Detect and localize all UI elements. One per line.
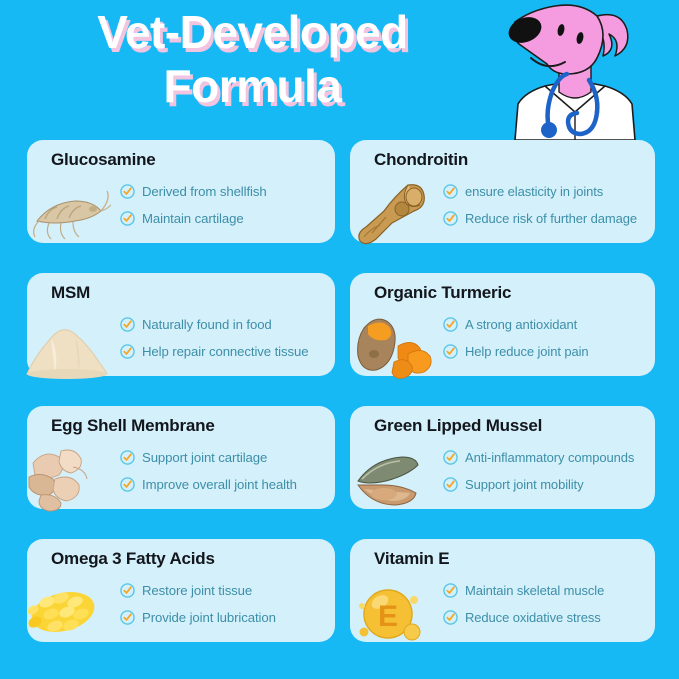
check-circle-icon: [120, 317, 135, 332]
check-circle-icon: [443, 211, 458, 226]
bullet-text: Anti-inflammatory compounds: [465, 450, 634, 465]
bullet-text: Reduce risk of further damage: [465, 211, 637, 226]
bullet-text: A strong antioxidant: [465, 317, 577, 332]
check-circle-icon: [443, 610, 458, 625]
check-circle-icon: [120, 477, 135, 492]
shrimp-icon: [25, 171, 111, 247]
bullet-text: Maintain skeletal muscle: [465, 583, 604, 598]
page-title: Vet-Developed Formula: [0, 6, 505, 114]
title-line-1: Vet-Developed: [0, 6, 505, 60]
ingredient-card-organic-turmeric[interactable]: Organic Turmeric: [350, 273, 655, 376]
bullet-item: Naturally found in food: [120, 311, 331, 338]
bullet-text: Support joint mobility: [465, 477, 583, 492]
powder-icon: [25, 304, 111, 380]
check-circle-icon: [120, 184, 135, 199]
ingredient-card-glucosamine[interactable]: Glucosamine: [27, 140, 335, 243]
capsule-letter: E: [378, 600, 398, 633]
check-circle-icon: [120, 583, 135, 598]
bullet-text: Help reduce joint pain: [465, 344, 589, 359]
check-circle-icon: [443, 184, 458, 199]
bullet-list: A strong antioxidant Help reduce joint p…: [443, 311, 651, 365]
check-circle-icon: [443, 477, 458, 492]
check-circle-icon: [443, 317, 458, 332]
header: Vet-Developed Formula: [0, 0, 679, 136]
bullet-item: A strong antioxidant: [443, 311, 651, 338]
bullet-text: Help repair connective tissue: [142, 344, 308, 359]
card-title: Glucosamine: [51, 150, 156, 170]
ingredient-card-vitamin-e[interactable]: Vitamin E E: [350, 539, 655, 642]
card-row: Omega 3 Fatty Acids: [0, 535, 679, 668]
bullet-text: Derived from shellfish: [142, 184, 267, 199]
turmeric-icon: [352, 304, 438, 380]
bullet-item: Derived from shellfish: [120, 178, 331, 205]
veterinarian-dog-mascot-icon: [485, 0, 665, 140]
bullet-list: Naturally found in food Help repair conn…: [120, 311, 331, 365]
check-circle-icon: [120, 211, 135, 226]
card-title: Omega 3 Fatty Acids: [51, 549, 215, 569]
check-circle-icon: [120, 344, 135, 359]
bullet-text: Improve overall joint health: [142, 477, 297, 492]
card-row: Glucosamine: [0, 136, 679, 269]
check-circle-icon: [443, 344, 458, 359]
check-circle-icon: [120, 450, 135, 465]
vitamin-e-capsule-icon: E: [352, 570, 438, 646]
eggshell-icon: [25, 437, 111, 513]
fish-oil-capsules-icon: [25, 570, 111, 646]
bullet-item: ensure elasticity in joints: [443, 178, 651, 205]
bullet-text: Naturally found in food: [142, 317, 272, 332]
mussel-icon: [352, 437, 438, 513]
ingredient-card-egg-shell-membrane[interactable]: Egg Shell Membrane: [27, 406, 335, 509]
bullet-text: Provide joint lubrication: [142, 610, 276, 625]
bullet-list: ensure elasticity in joints Reduce risk …: [443, 178, 651, 232]
card-title: Vitamin E: [374, 549, 449, 569]
check-circle-icon: [443, 450, 458, 465]
title-line-2: Formula: [0, 60, 505, 114]
ingredient-card-grid: Glucosamine: [0, 136, 679, 668]
bullet-text: Reduce oxidative stress: [465, 610, 601, 625]
card-title: Egg Shell Membrane: [51, 416, 215, 436]
bullet-item: Maintain cartilage: [120, 205, 331, 232]
ingredient-card-chondroitin[interactable]: Chondroitin: [350, 140, 655, 243]
bullet-item: Reduce risk of further damage: [443, 205, 651, 232]
bullet-item: Restore joint tissue: [120, 577, 331, 604]
bullet-item: Provide joint lubrication: [120, 604, 331, 631]
check-circle-icon: [443, 583, 458, 598]
bullet-list: Derived from shellfish Maintain cartilag…: [120, 178, 331, 232]
bullet-item: Support joint mobility: [443, 471, 651, 498]
bullet-list: Restore joint tissue Provide joint lubri…: [120, 577, 331, 631]
card-title: Organic Turmeric: [374, 283, 511, 303]
ingredient-card-omega-3-fatty-acids[interactable]: Omega 3 Fatty Acids: [27, 539, 335, 642]
card-title: MSM: [51, 283, 90, 303]
bullet-text: Restore joint tissue: [142, 583, 252, 598]
bullet-item: Anti-inflammatory compounds: [443, 444, 651, 471]
check-circle-icon: [120, 610, 135, 625]
card-title: Chondroitin: [374, 150, 468, 170]
bullet-item: Support joint cartilage: [120, 444, 331, 471]
bullet-item: Help reduce joint pain: [443, 338, 651, 365]
bullet-item: Help repair connective tissue: [120, 338, 331, 365]
bullet-item: Improve overall joint health: [120, 471, 331, 498]
bullet-text: Support joint cartilage: [142, 450, 267, 465]
bullet-text: ensure elasticity in joints: [465, 184, 603, 199]
bone-icon: [352, 171, 438, 247]
bullet-list: Anti-inflammatory compounds Support join…: [443, 444, 651, 498]
bullet-item: Reduce oxidative stress: [443, 604, 651, 631]
bullet-text: Maintain cartilage: [142, 211, 244, 226]
card-title: Green Lipped Mussel: [374, 416, 542, 436]
bullet-list: Support joint cartilage Improve overall …: [120, 444, 331, 498]
card-row: MSM Naturally found: [0, 269, 679, 402]
card-row: Egg Shell Membrane: [0, 402, 679, 535]
ingredient-card-msm[interactable]: MSM Naturally found: [27, 273, 335, 376]
ingredient-card-green-lipped-mussel[interactable]: Green Lipped Mussel: [350, 406, 655, 509]
bullet-item: Maintain skeletal muscle: [443, 577, 651, 604]
bullet-list: Maintain skeletal muscle Reduce oxidativ…: [443, 577, 651, 631]
